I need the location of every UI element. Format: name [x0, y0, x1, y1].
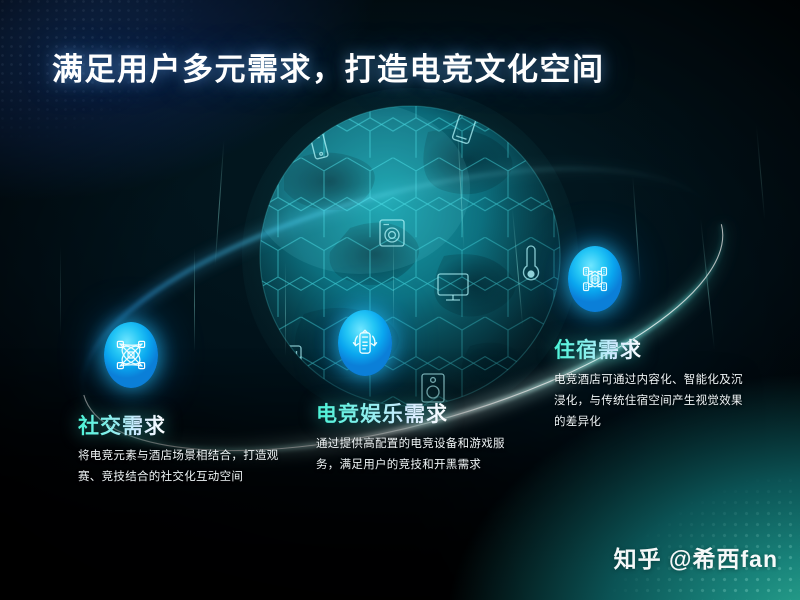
node-body: 电竞酒店可通过内容化、智能化及沉浸化，与传统住宿空间产生视觉效果的差异化: [554, 370, 750, 433]
hexagonal-mesh-globe: [232, 78, 588, 434]
device-refresh-icon: [338, 310, 392, 376]
background-teal-glow: [0, 0, 800, 600]
light-streak: [393, 236, 394, 328]
light-streak: [60, 246, 61, 336]
light-streak: [194, 248, 195, 352]
light-streak: [215, 140, 225, 266]
node-heading: 电竞娱乐需求: [316, 398, 448, 428]
light-streak: [285, 262, 286, 356]
node-heading: 住宿需求: [554, 334, 642, 364]
node-heading: 社交需求: [78, 410, 166, 440]
smartphone-icon: [310, 133, 328, 159]
background-blue-glow: [0, 0, 800, 600]
watermark: 知乎 @希西fan: [614, 540, 778, 574]
node-body: 将电竞元素与酒店场景相结合，打造观赛、竞技结合的社交化互动空间: [78, 446, 284, 488]
background-dark-band: [0, 0, 800, 600]
light-streak: [756, 124, 765, 220]
tablet-icon: [452, 114, 476, 144]
thermometer-icon: [524, 246, 539, 280]
social-network-icon: [104, 322, 158, 388]
light-streak: [456, 116, 464, 252]
refrigerator-icon: [282, 346, 301, 376]
monitor-icon: [438, 274, 468, 300]
light-streaks: [0, 0, 800, 600]
background-vignette: [0, 0, 800, 600]
light-streak: [632, 176, 641, 284]
node-body: 通过提供高配置的电竞设备和游戏服务，满足用户的竞技和开黑需求: [316, 434, 506, 476]
background-base: [0, 0, 800, 600]
slide-canvas: 满足用户多元需求，打造电竞文化空间: [0, 0, 800, 600]
washing-machine-icon: [380, 220, 404, 246]
light-streak: [512, 208, 523, 326]
glowing-orbit-ring: [0, 0, 800, 600]
smart-hub-icon: [568, 246, 622, 312]
page-title: 满足用户多元需求，打造电竞文化空间: [52, 44, 605, 89]
light-streak: [700, 218, 715, 349]
